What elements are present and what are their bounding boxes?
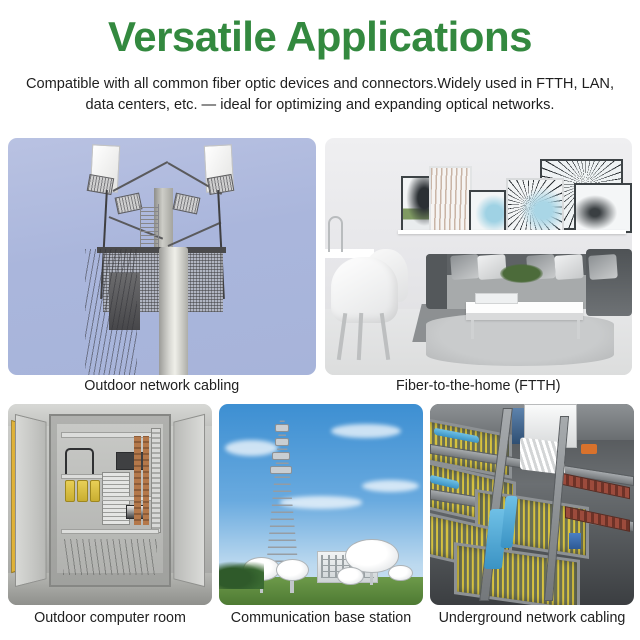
capacitor [65,480,75,502]
radio-unit [173,192,201,213]
caption-fiber-to-the-home: Fiber-to-the-home (FTTH) [325,376,633,398]
wall-art-frame [429,166,472,232]
conduit-loop [65,448,94,476]
wiring-bundle [63,539,157,575]
din-rail [61,474,106,479]
picture-shelf [398,230,626,234]
tower-antenna-pod [270,466,292,474]
cabinet-door-left [15,414,46,587]
tower-antenna-pod [275,438,289,446]
table-tray [475,293,518,304]
dining-chair [331,257,399,323]
fuse-strip [151,428,161,533]
faucet-icon [328,216,343,252]
satellite-dish [337,567,364,585]
tower-arm [167,221,221,247]
wall-art-canvas [471,192,504,231]
coffee-table-leg [577,320,581,339]
cable-tray-photo [430,404,634,605]
living-room-photo [325,138,633,375]
orange-equipment [581,444,597,454]
gallery-top-captions: Outdoor network cabling Fiber-to-the-hom… [8,376,632,398]
satellite-dish [388,565,412,581]
tower-cable-bundle [85,249,137,375]
din-rail [61,529,159,534]
coffee-table-leg [471,320,475,339]
sofa-arm [426,254,448,309]
satellite-dish [276,559,309,581]
wall-art-frame [506,178,564,233]
caption-outdoor-computer-room: Outdoor computer room [8,608,212,630]
wall-art-canvas [431,168,470,230]
cabinet-door-right [174,414,205,587]
sofa-cushion [588,254,617,280]
capacitor [90,480,100,502]
cell-tower-photo [8,138,316,375]
coffee-table [466,302,583,321]
tower-antenna-pod [275,424,289,432]
wall-art-frame [574,183,632,233]
cloud [362,480,419,492]
base-station-photo [219,404,423,605]
capacitor [77,480,87,502]
busbar [134,436,140,524]
caption-communication-base-station: Communication base station [219,608,423,630]
page-title: Versatile Applications [0,14,640,60]
wall-art-canvas [576,185,630,231]
busbar [143,436,149,524]
cloud [225,440,278,456]
tower-mast [159,247,188,375]
shag-rug [426,313,614,365]
marketing-banner: Versatile Applications Compatible with a… [0,0,640,640]
cloud [331,424,400,438]
radio-unit [114,192,142,213]
sofa-cushion [450,254,479,280]
tree-line [219,561,264,589]
wall-art-frame [469,190,506,233]
gallery-bottom-captions: Outdoor computer room Communication base… [8,608,634,630]
gallery-top-row [8,138,632,375]
caption-underground-network-cabling: Underground network cabling [430,608,634,630]
blue-junction-box [569,533,581,549]
control-cabinet-photo [8,404,212,605]
gallery-bottom-row [8,404,634,605]
tower-ladder [140,204,158,251]
wall-art-canvas [508,180,562,231]
sofa-cushion [554,254,583,280]
caption-outdoor-network-cabling: Outdoor network cabling [8,376,316,398]
tower-antenna-pod [272,452,290,460]
bonsai-plant [500,264,543,283]
page-subtitle: Compatible with all common fiber optic d… [24,74,616,116]
